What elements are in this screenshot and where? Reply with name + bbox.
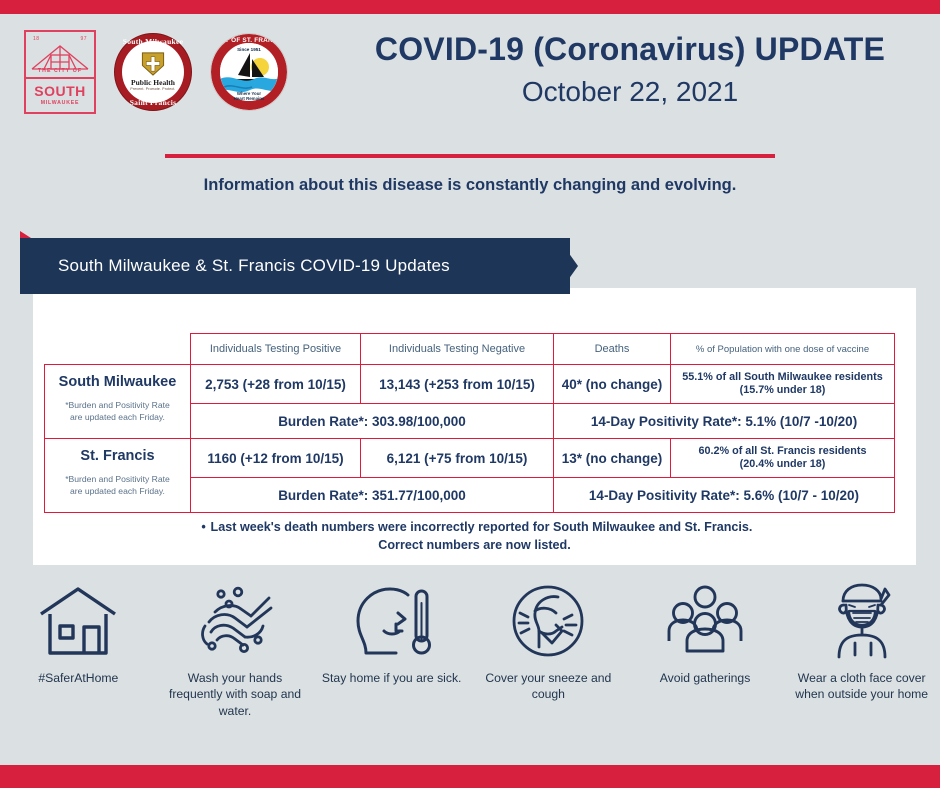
bullet-icon: • [197,518,211,536]
cell-sm-vaccine: 55.1% of all South Milwaukee residents (… [671,365,895,404]
cell-sm-burden-rate: Burden Rate*: 303.98/100,000 [191,404,554,439]
notes-block: •Last week's death numbers were incorrec… [33,518,916,555]
prevention-item-cover-sneeze: Cover your sneeze and cough [470,580,627,719]
header-cell-deaths: Deaths [554,334,671,365]
cell-sm-vaccine-line1: 55.1% of all South Milwaukee residents [682,371,882,383]
banner-arrow-icon [558,238,578,294]
cell-sm-negative: 13,143 (+253 from 10/15) [361,365,554,404]
seal-motto: Where Your Heart Remains [211,91,287,101]
prevention-item-face-cover: Wear a cloth face cover when outside you… [783,580,940,719]
cell-sf-positivity-rate: 14-Day Positivity Rate*: 5.6% (10/7 - 10… [554,478,895,513]
city-footnote: *Burden and Positivity Rate are updated … [49,400,186,429]
cell-sm-deaths: 40* (no change) [554,365,671,404]
city-footnote: *Burden and Positivity Rate are updated … [49,474,186,503]
prevention-caption: Wash your hands frequently with soap and… [164,670,306,719]
washing-hands-icon [191,580,279,662]
prevention-icon-row: #SaferAtHome [0,580,940,719]
seal-tagline: Prevent. Promote. Protect. [115,87,191,91]
person-face-mask-icon [819,580,905,662]
logo-city-of-label: THE CITY OF [26,68,94,74]
table-row-south-milwaukee: South Milwaukee *Burden and Positivity R… [45,365,895,404]
logo-year-right: 97 [80,36,87,42]
cell-sm-positivity-rate: 14-Day Positivity Rate*: 5.1% (10/7 -10/… [554,404,895,439]
section-banner: South Milwaukee & St. Francis COVID-19 U… [20,238,570,294]
section-banner-label: South Milwaukee & St. Francis COVID-19 U… [58,256,450,276]
note-line-2: Correct numbers are now listed. [33,536,916,554]
page-title: COVID-19 (Coronavirus) UPDATE [330,30,930,68]
report-date: October 22, 2021 [330,76,930,108]
row-label-south-milwaukee: South Milwaukee *Burden and Positivity R… [45,365,191,439]
prevention-caption: Wear a cloth face cover when outside you… [791,670,933,703]
public-health-seal: South Milwaukee Public Health Prevent. P… [114,33,192,111]
banner-fold-accent [20,231,31,238]
prevention-item-avoid-gatherings: Avoid gatherings [627,580,784,719]
seal-motto-line2: Heart Remains [234,96,265,101]
cell-sf-deaths: 13* (no change) [554,439,671,478]
prevention-caption: Avoid gatherings [660,670,751,686]
seal-arc-top: South Milwaukee [115,37,191,46]
table-header-row: Individuals Testing Positive Individuals… [45,334,895,365]
header-cell-blank [45,334,191,365]
prevention-caption: Cover your sneeze and cough [477,670,619,703]
top-red-bar [0,0,940,14]
covid-stats-table: Individuals Testing Positive Individuals… [44,333,895,513]
south-milwaukee-city-logo: 18 97 THE CITY OF SOUTH MILWAUKEE [24,30,96,114]
city-footnote-line2: are updated each Friday. [70,486,165,496]
header-cell-vaccine: % of Population with one dose of vaccine [671,334,895,365]
logo-group: 18 97 THE CITY OF SOUTH MILWAUKEE [24,30,288,114]
city-name: South Milwaukee [49,374,186,390]
cell-sm-vaccine-line2: (15.7% under 18) [740,384,826,396]
shield-cross-icon [140,50,167,77]
city-footnote-line2: are updated each Friday. [70,412,165,422]
logo-milwaukee-label: MILWAUKEE [41,100,80,106]
cell-sf-positive: 1160 (+12 from 10/15) [191,439,361,478]
title-block: COVID-19 (Coronavirus) UPDATE October 22… [330,30,930,108]
city-footnote-line1: *Burden and Positivity Rate [65,474,170,484]
cell-sf-vaccine-line1: 60.2% of all St. Francis residents [698,445,866,457]
prevention-item-safer-at-home: #SaferAtHome [0,580,157,719]
group-of-people-icon [665,580,745,662]
bridge-truss-icon [30,44,90,70]
note-line-1: •Last week's death numbers were incorrec… [33,518,916,536]
prevention-caption: Stay home if you are sick. [322,670,462,686]
title-divider [165,154,775,158]
house-icon [37,580,119,662]
prevention-item-wash-hands: Wash your hands frequently with soap and… [157,580,314,719]
cover-sneeze-icon [506,580,590,662]
seal-center-label: Public Health [115,78,191,87]
cell-sf-vaccine-line2: (20.4% under 18) [740,458,826,470]
cell-sf-burden-rate: Burden Rate*: 351.77/100,000 [191,478,554,513]
city-of-st-francis-seal: CITY OF ST. FRANCIS WI Since 1951 Where … [210,33,288,111]
cell-sf-negative: 6,121 (+75 from 10/15) [361,439,554,478]
table-row-st-francis: St. Francis *Burden and Positivity Rate … [45,439,895,478]
infographic-page: 18 97 THE CITY OF SOUTH MILWAUKEE [0,0,940,788]
seal-arc-bottom: Saint Francis [115,98,191,107]
logo-year-left: 18 [33,36,40,42]
note-text-1: Last week's death numbers were incorrect… [211,520,753,534]
header-cell-negative: Individuals Testing Negative [361,334,554,365]
prevention-caption: #SaferAtHome [38,670,118,686]
prevention-item-stay-home-sick: Stay home if you are sick. [313,580,470,719]
cell-sm-positive: 2,753 (+28 from 10/15) [191,365,361,404]
bottom-red-bar [0,765,940,788]
subtitle-text: Information about this disease is consta… [0,176,940,195]
logo-south-label: SOUTH [34,84,86,98]
row-label-st-francis: St. Francis *Burden and Positivity Rate … [45,439,191,513]
header-cell-positive: Individuals Testing Positive [191,334,361,365]
cell-sf-vaccine: 60.2% of all St. Francis residents (20.4… [671,439,895,478]
head-thermometer-icon [350,580,434,662]
city-footnote-line1: *Burden and Positivity Rate [65,400,170,410]
city-name: St. Francis [49,448,186,464]
seal-since-label: Since 1951 [211,47,287,52]
